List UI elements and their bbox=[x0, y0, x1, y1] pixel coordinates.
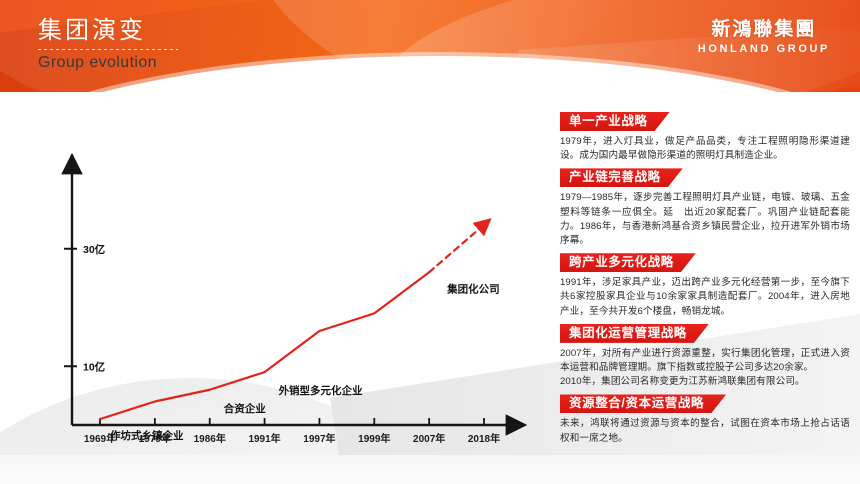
logo-text-en: HONLAND GROUP bbox=[698, 42, 830, 57]
strategy-section-header: 产业链完善战略 bbox=[560, 168, 852, 187]
strategy-section: 产业链完善战略1979—1985年，逐步完善工程照明灯具产业链，电镀、玻璃、五金… bbox=[560, 168, 852, 248]
strategy-body: 1979—1985年，逐步完善工程照明灯具产业链，电镀、玻璃、五金塑料等链条一应… bbox=[560, 191, 852, 248]
strategy-body: 未来，鸿联将通过资源与资本的整合，试图在资本市场上抢占话语权和一席之地。 bbox=[560, 417, 852, 445]
strategy-section: 单一产业战略1979年，进入灯具业，做足产品品类，专注工程照明隐形渠道建设。成为… bbox=[560, 112, 852, 163]
strategy-body-line: 2010年，集团公司名称变更为江苏新鸿联集团有限公司。 bbox=[560, 375, 850, 389]
strategy-body: 2007年，对所有产业进行资源重整，实行集团化管理，正式进入资本运营和品牌管理期… bbox=[560, 347, 852, 390]
strategy-body-line: 1979—1985年，逐步完善工程照明灯具产业链，电镀、玻璃、五金塑料等链条一应… bbox=[560, 191, 850, 248]
growth-line-chart: 10亿30亿 1969年1979年1986年1991年1997年1999年200… bbox=[30, 150, 530, 450]
chart-annotation-label: 合资企业 bbox=[223, 402, 266, 415]
strategy-section-header: 单一产业战略 bbox=[560, 112, 852, 131]
strategy-panel: 单一产业战略1979年，进入灯具业，做足产品品类，专注工程照明隐形渠道建设。成为… bbox=[560, 112, 852, 451]
x-axis-tick-label: 2007年 bbox=[413, 432, 445, 445]
strategy-title: 单一产业战略 bbox=[569, 112, 648, 131]
background-swoosh-bottom bbox=[0, 455, 860, 484]
strategy-body: 1979年，进入灯具业，做足产品品类，专注工程照明隐形渠道建设。成为国内最早做隐… bbox=[560, 135, 852, 163]
y-axis-tick-label: 30亿 bbox=[83, 243, 106, 256]
strategy-body: 1991年，涉足家具产业，迈出跨产业多元化经营第一步，至今旗下共6家控股家具企业… bbox=[560, 276, 852, 319]
strategy-title-flag: 资源整合/资本运营战略 bbox=[560, 394, 726, 413]
strategy-body-line: 1991年，涉足家具产业，迈出跨产业多元化经营第一步，至今旗下共6家控股家具企业… bbox=[560, 276, 850, 319]
header-banner: 集团演变 Group evolution 新鴻聯集團 HONLAND GROUP bbox=[0, 0, 860, 92]
page-title-en: Group evolution bbox=[38, 52, 178, 74]
strategy-section-header: 资源整合/资本运营战略 bbox=[560, 394, 852, 413]
company-logo: 新鴻聯集團 HONLAND GROUP bbox=[698, 18, 830, 57]
strategy-title: 产业链完善战略 bbox=[569, 168, 661, 187]
growth-line-solid bbox=[100, 272, 429, 419]
x-axis-tick-label: 1986年 bbox=[194, 432, 226, 445]
strategy-body-line: 1979年，进入灯具业，做足产品品类，专注工程照明隐形渠道建设。成为国内最早做隐… bbox=[560, 135, 850, 163]
page-title-cn: 集团演变 bbox=[38, 16, 178, 46]
strategy-title-flag: 单一产业战略 bbox=[560, 112, 670, 131]
strategy-title-flag: 集团化运营管理战略 bbox=[560, 324, 709, 343]
strategy-section: 跨产业多元化战略1991年，涉足家具产业，迈出跨产业多元化经营第一步，至今旗下共… bbox=[560, 253, 852, 319]
chart-annotation-label: 集团化公司 bbox=[446, 282, 500, 295]
chart-annotations: 作坊式乡镇企业合资企业外销型多元化企业集团化公司 bbox=[110, 282, 500, 442]
strategy-title: 集团化运营管理战略 bbox=[569, 324, 687, 343]
strategy-section-header: 集团化运营管理战略 bbox=[560, 324, 852, 343]
x-axis-tick-label: 1991年 bbox=[248, 432, 280, 445]
strategy-section: 资源整合/资本运营战略未来，鸿联将通过资源与资本的整合，试图在资本市场上抢占话语… bbox=[560, 394, 852, 445]
strategy-title-flag: 产业链完善战略 bbox=[560, 168, 683, 187]
y-axis-ticks: 10亿30亿 bbox=[64, 243, 106, 374]
chart-annotation-label: 作坊式乡镇企业 bbox=[110, 429, 184, 442]
strategy-body-line: 未来，鸿联将通过资源与资本的整合，试图在资本市场上抢占话语权和一席之地。 bbox=[560, 417, 850, 445]
y-axis-tick-label: 10亿 bbox=[83, 360, 106, 373]
slide-canvas: 集团演变 Group evolution 新鴻聯集團 HONLAND GROUP bbox=[0, 0, 860, 484]
x-axis-tick-label: 2018年 bbox=[468, 432, 500, 445]
strategy-title-flag: 跨产业多元化战略 bbox=[560, 253, 696, 272]
logo-text-cn: 新鴻聯集團 bbox=[698, 18, 830, 41]
title-separator bbox=[38, 49, 178, 50]
chart-annotation-label: 外销型多元化企业 bbox=[278, 384, 363, 397]
strategy-title: 资源整合/资本运营战略 bbox=[569, 394, 704, 413]
strategy-title: 跨产业多元化战略 bbox=[569, 253, 674, 272]
strategy-section-header: 跨产业多元化战略 bbox=[560, 253, 852, 272]
strategy-body-line: 2007年，对所有产业进行资源重整，实行集团化管理，正式进入资本运营和品牌管理期… bbox=[560, 347, 850, 375]
strategy-section: 集团化运营管理战略2007年，对所有产业进行资源重整，实行集团化管理，正式进入资… bbox=[560, 324, 852, 390]
chart-svg: 10亿30亿 1969年1979年1986年1991年1997年1999年200… bbox=[30, 150, 530, 450]
x-axis-tick-label: 1997年 bbox=[303, 432, 335, 445]
x-axis-tick-label: 1999年 bbox=[358, 432, 390, 445]
header-title-block: 集团演变 Group evolution bbox=[38, 16, 178, 74]
growth-line-dashed bbox=[429, 228, 480, 272]
